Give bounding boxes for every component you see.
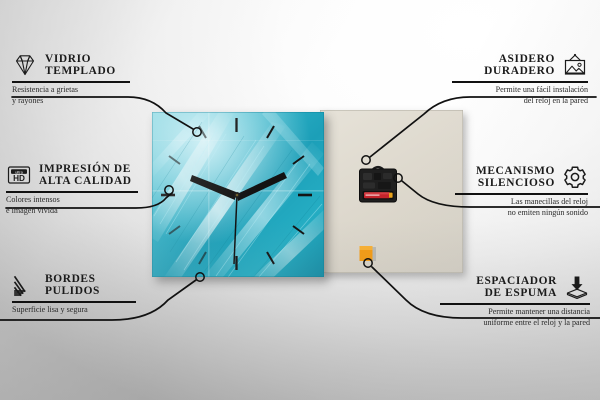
feature-title-line1: MECANISMO [476,165,555,177]
feature-subtitle-line1: Colores intensos [6,195,138,206]
clock-hands [152,112,324,277]
feature-titles: BORDES PULIDOS [45,273,100,297]
ultra-hd-icon: ultra HD [6,162,32,188]
feature-title-line2: SILENCIOSO [476,177,555,189]
feature-rule [455,193,588,195]
feature-mecanismo-silencioso: MECANISMO SILENCIOSO Las manecillas del … [455,164,588,219]
feature-impresion-alta-calidad: ultra HD IMPRESIÓN DE ALTA CALIDAD Color… [6,162,138,217]
feature-subtitle-line1: Permite una fácil instalación [452,85,588,96]
infographic-canvas: VIDRIO TEMPLADO Resistencia a grietas y … [0,0,600,400]
feature-rule [6,191,138,193]
polished-edges-icon [12,272,38,298]
feature-title-line1: BORDES [45,273,100,285]
feature-subtitle-line2: y rayones [12,96,130,107]
feature-subtitle-line2: del reloj en la pared [452,96,588,107]
feature-title-line1: IMPRESIÓN DE [39,163,132,175]
wall-hanger-frame-icon [562,52,588,78]
diamond-icon [12,52,38,78]
feature-title-line2: DURADERO [484,65,555,77]
feature-titles: IMPRESIÓN DE ALTA CALIDAD [39,163,132,187]
feature-title-line1: ASIDERO [484,53,555,65]
feature-subtitle-line1: Resistencia a grietas [12,85,130,96]
feature-rule [452,81,588,83]
feature-asidero-duradero: ASIDERO DURADERO Permite una fácil insta… [452,52,588,107]
feature-titles: MECANISMO SILENCIOSO [476,165,555,189]
feature-title-line2: ALTA CALIDAD [39,175,132,187]
feature-title-line2: PULIDOS [45,285,100,297]
clock-mechanism [356,162,400,206]
feature-bordes-pulidos: BORDES PULIDOS Superficie lisa y segura [0,272,124,316]
foam-spacer [358,244,378,264]
feature-subtitle-line1: Superficie lisa y segura [12,305,124,316]
feature-title-line2: TEMPLADO [45,65,116,77]
feature-subtitle-line2: uniforme entre el reloj y la pared [440,318,590,329]
feature-titles: ESPACIADOR DE ESPUMA [476,275,557,299]
feature-vidrio-templado: VIDRIO TEMPLADO Resistencia a grietas y … [12,52,130,107]
feature-title-line1: VIDRIO [45,53,116,65]
gear-icon [562,164,588,190]
feature-titles: VIDRIO TEMPLADO [45,53,116,77]
feature-subtitle-line2: e imagen vívida [6,206,138,217]
glass-wall-clock [152,112,324,277]
feature-rule [440,303,590,305]
feature-subtitle-line1: Permite mantener una distancia [440,307,590,318]
foam-spacer-arrow-icon [564,274,590,300]
feature-subtitle-line2: no emiten ningún sonido [455,208,588,219]
feature-titles: ASIDERO DURADERO [484,53,555,77]
ultra-hd-icon-bottom-text: HD [13,174,25,183]
feature-rule [12,301,136,303]
clock-back-panel [320,110,463,273]
feature-subtitle-line1: Las manecillas del reloj [455,197,588,208]
feature-espaciador-de-espuma: ESPACIADOR DE ESPUMA Permite mantener un… [440,274,590,329]
feature-rule [12,81,130,83]
feature-title-line1: ESPACIADOR [476,275,557,287]
feature-title-line2: DE ESPUMA [476,287,557,299]
